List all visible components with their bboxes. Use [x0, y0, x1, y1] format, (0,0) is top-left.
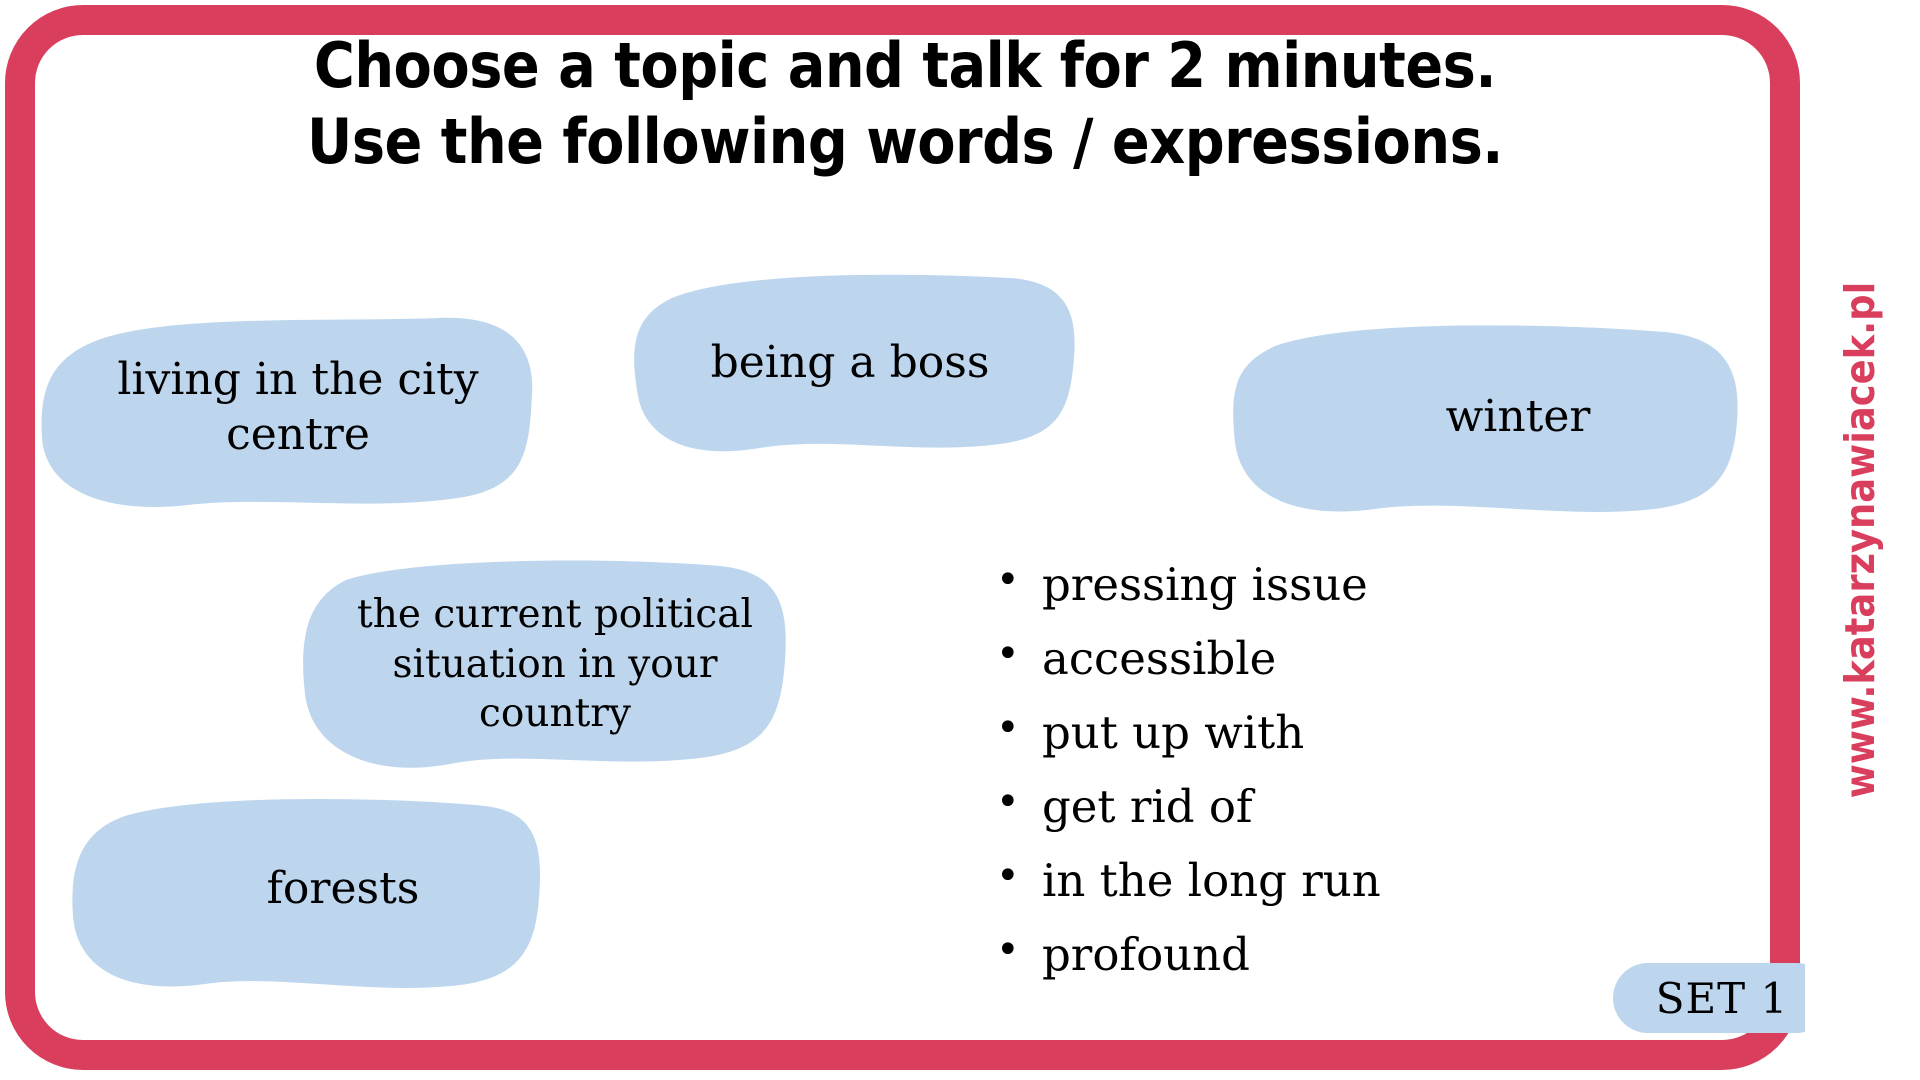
word-label: pressing issue	[1042, 558, 1368, 611]
topic-blob-forests[interactable]: forests	[65, 782, 545, 997]
site-url-label: www.katarzynawiacek.pl	[1836, 282, 1884, 798]
list-item: get rid of	[990, 784, 1590, 829]
word-label: profound	[1042, 928, 1250, 981]
topic-blob-living-in-the-city-centre[interactable]: living in the city centre	[38, 300, 538, 515]
topic-blob-being-a-boss[interactable]: being a boss	[620, 268, 1080, 458]
list-item: in the long run	[990, 858, 1590, 903]
status-badge: SET 1	[1613, 963, 1805, 1033]
word-label: put up with	[1042, 706, 1304, 759]
list-item: profound	[990, 932, 1590, 977]
status-badge-label: SET 1	[1656, 974, 1789, 1023]
word-expression-list: pressing issue accessible put up with ge…	[990, 562, 1590, 1006]
site-url[interactable]: www.katarzynawiacek.pl	[1806, 0, 1914, 1080]
topic-blob-winter[interactable]: winter	[1215, 310, 1745, 525]
page-title-line-2: Use the following words / expressions.	[60, 104, 1750, 180]
page-title-line-1: Choose a topic and talk for 2 minutes.	[60, 28, 1750, 104]
worksheet-card: Choose a topic and talk for 2 minutes. U…	[0, 0, 1805, 1075]
list-item: pressing issue	[990, 562, 1590, 607]
topic-blob-the-current-political-situation-in-your-country[interactable]: the current political situation in your …	[300, 552, 790, 777]
topic-blob-label: the current political situation in your …	[300, 590, 790, 740]
list-item: accessible	[990, 636, 1590, 681]
topic-blob-label: forests	[65, 862, 545, 916]
page-title: Choose a topic and talk for 2 minutes. U…	[60, 28, 1750, 179]
word-label: get rid of	[1042, 780, 1253, 833]
word-label: in the long run	[1042, 854, 1381, 907]
word-label: accessible	[1042, 632, 1276, 685]
topic-blob-label: winter	[1215, 390, 1745, 444]
topic-blob-label: being a boss	[620, 336, 1080, 390]
list-item: put up with	[990, 710, 1590, 755]
topic-blob-label: living in the city centre	[38, 353, 538, 461]
